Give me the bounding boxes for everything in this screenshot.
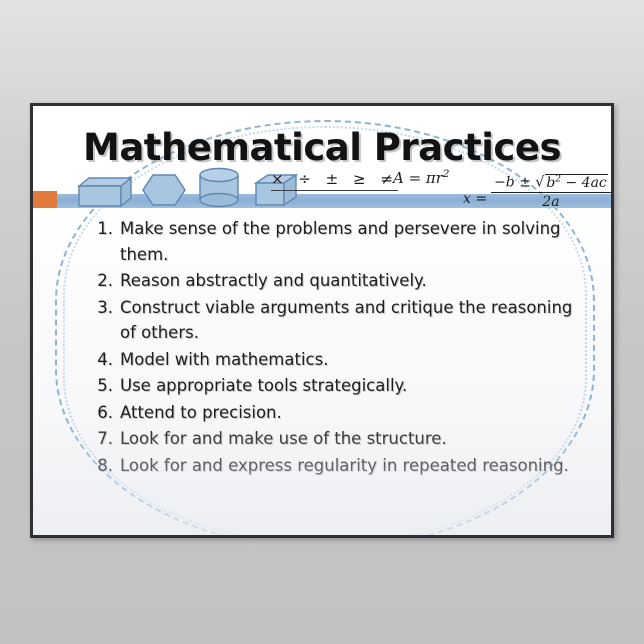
list-item: 1. Make sense of the problems and persev…: [89, 216, 577, 267]
radicand-exponent: 2: [555, 174, 561, 184]
area-formula-exponent: 2: [443, 169, 449, 180]
quadratic-radicand: b2 − 4ac: [545, 174, 607, 191]
list-item-text: Look for and make use of the structure.: [120, 426, 577, 452]
quadratic-numerator-lead: −b ±: [494, 175, 531, 191]
quadratic-lhs: x =: [463, 177, 487, 207]
area-formula: A = πr2: [393, 169, 449, 187]
list-item-text: Reason abstractly and quantitatively.: [120, 268, 577, 294]
list-item-number: 2.: [89, 268, 120, 294]
radical-icon: √: [535, 175, 544, 191]
list-item: 4. Model with mathematics.: [89, 347, 577, 373]
list-item-number: 5.: [89, 373, 120, 399]
poster-preview-stage: Mathematical Practices: [0, 0, 644, 644]
list-item-number: 1.: [89, 216, 120, 242]
quadratic-numerator: −b ± √b2 − 4ac: [491, 174, 611, 193]
list-item-text: Attend to precision.: [120, 400, 577, 426]
list-item: 5. Use appropriate tools strategically.: [89, 373, 577, 399]
quadratic-denominator: 2a: [542, 193, 559, 210]
list-item-number: 7.: [89, 426, 120, 452]
list-item-number: 3.: [89, 295, 120, 321]
list-item: 8. Look for and express regularity in re…: [89, 453, 577, 479]
list-item-text: Use appropriate tools strategically.: [120, 373, 577, 399]
page-title: Mathematical Practices: [33, 126, 611, 169]
list-item: 3. Construct viable arguments and critiq…: [89, 295, 577, 346]
practices-list: 1. Make sense of the problems and persev…: [89, 216, 577, 479]
list-item: 7. Look for and make use of the structur…: [89, 426, 577, 452]
area-formula-base: A = πr: [393, 169, 443, 187]
list-item: 6. Attend to precision.: [89, 400, 577, 426]
poster-frame[interactable]: Mathematical Practices: [30, 103, 614, 538]
hexagon-shape: [141, 172, 187, 208]
list-item-number: 4.: [89, 347, 120, 373]
list-item: 2. Reason abstractly and quantitatively.: [89, 268, 577, 294]
list-item-text: Look for and express regularity in repea…: [120, 453, 577, 479]
list-item-number: 8.: [89, 453, 120, 479]
list-item-text: Construct viable arguments and critique …: [120, 295, 577, 346]
list-item-text: Model with mathematics.: [120, 347, 577, 373]
list-item-text: Make sense of the problems and persevere…: [120, 216, 577, 267]
list-item-number: 6.: [89, 400, 120, 426]
geometry-shapes-row: [73, 166, 283, 208]
quadratic-formula: x = −b ± √b2 − 4ac 2a: [463, 174, 611, 210]
math-symbols: × ÷ ± ≥ ≠: [271, 170, 398, 191]
cylinder-shape: [195, 166, 243, 208]
orange-accent-block: [33, 191, 57, 208]
quadratic-fraction: −b ± √b2 − 4ac 2a: [491, 174, 611, 210]
radicand-base: b: [546, 175, 555, 191]
radicand-tail: − 4ac: [565, 175, 606, 191]
poster-canvas: Mathematical Practices: [33, 106, 611, 535]
rectangular-prism-shape: [73, 174, 133, 208]
